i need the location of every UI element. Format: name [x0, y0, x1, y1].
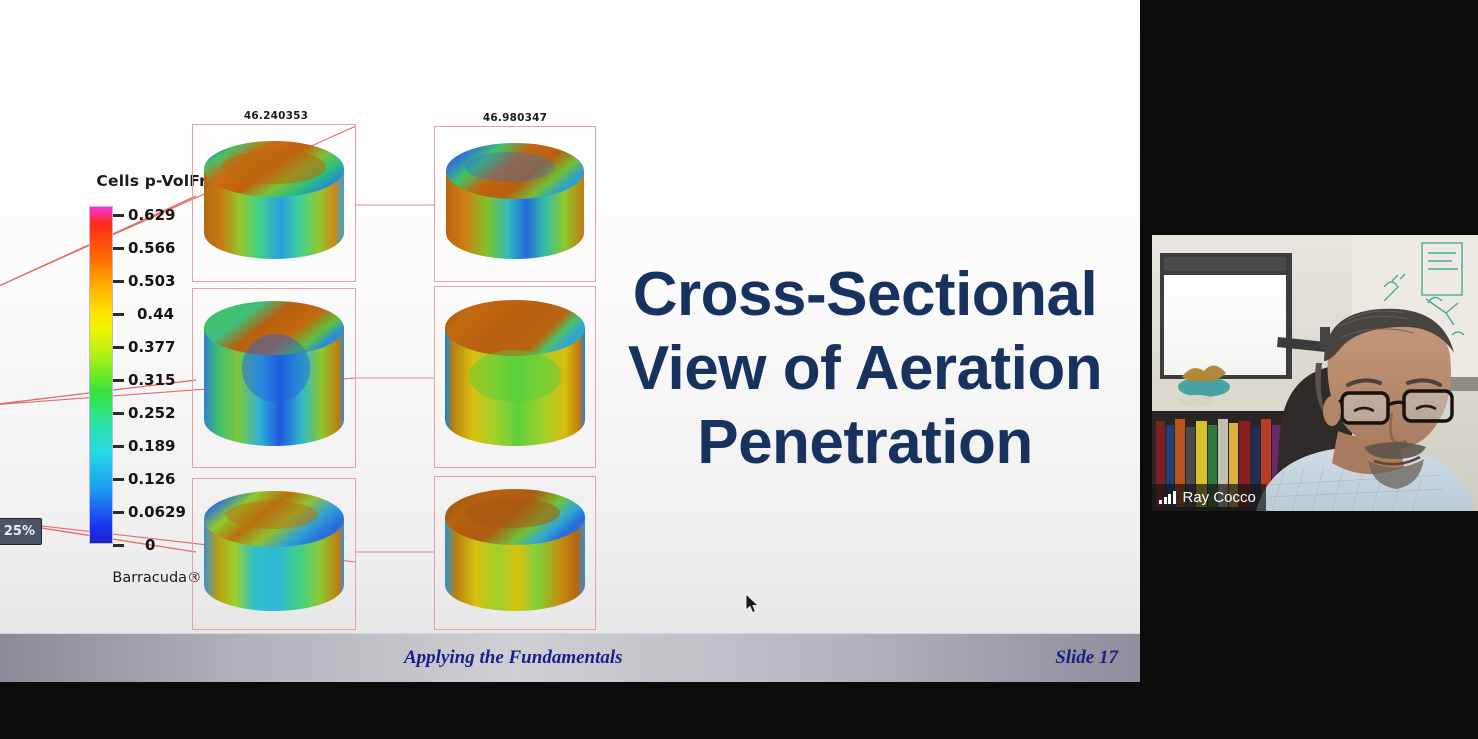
sim-top-label-right: 46.980347 [434, 112, 596, 124]
tick-dash-icon [113, 544, 124, 547]
participant-name-label: Ray Cocco [1183, 489, 1256, 506]
page-title: Cross-Sectional View of Aeration Penetra… [600, 258, 1130, 480]
cylinder-svg [198, 483, 350, 625]
cylinder-svg [440, 135, 590, 273]
tick-dash-icon [113, 214, 124, 217]
colorbar-tick: 0.0629 [113, 505, 186, 519]
colorbar-tick: 0.315 [113, 373, 175, 387]
presentation-slide: Cells p-VolFra 0.629 0.566 0.503 0.44 0.… [0, 0, 1140, 682]
cylinder-render [193, 289, 355, 467]
mouse-cursor [745, 593, 761, 615]
cylinder-render [193, 479, 355, 629]
cylinder-render [435, 287, 595, 467]
cylinder-render [193, 125, 355, 281]
zoom-level-label: @ 25% [0, 524, 35, 539]
colorbar-tick: 0.189 [113, 439, 175, 453]
colorbar-gradient [89, 206, 113, 544]
colorbar-tick: 0.566 [113, 241, 175, 255]
cylinder-svg [198, 294, 350, 462]
participant-name-badge: Ray Cocco [1152, 484, 1266, 511]
colorbar-tick: 0.503 [113, 274, 175, 288]
title-line-1: Cross-Sectional [600, 258, 1130, 332]
colorbar-tick: 0.252 [113, 406, 175, 420]
sim-panel-left-row1[interactable] [192, 124, 356, 282]
title-line-2: View of Aeration [600, 332, 1130, 406]
cylinder-render [435, 477, 595, 629]
cylinder-svg [198, 133, 350, 273]
participant-video-tile[interactable]: Ray Cocco [1152, 235, 1478, 511]
tick-dash-icon [113, 412, 124, 415]
webcam-video-frame [1152, 235, 1478, 511]
tick-dash-icon [113, 478, 124, 481]
signal-bars-icon [1159, 491, 1176, 504]
colorbar-tick: 0 [113, 538, 155, 552]
colorbar-tick: 0.377 [113, 340, 175, 354]
screen-share-window: Cells p-VolFra 0.629 0.566 0.503 0.44 0.… [0, 0, 1478, 739]
colorbar-tick: 0.629 [113, 208, 175, 222]
zoom-level-badge[interactable]: @ 25% [0, 518, 42, 545]
cylinder-render [435, 127, 595, 281]
slide-footer-bar: Applying the Fundamentals Slide 17 [0, 633, 1140, 682]
footer-slide-number: Slide 17 [1055, 647, 1118, 669]
tick-dash-icon [113, 511, 124, 514]
sim-panel-left-row2[interactable] [192, 288, 356, 468]
tick-dash-icon [113, 346, 124, 349]
tick-dash-icon [113, 379, 124, 382]
footer-presentation-title: Applying the Fundamentals [404, 647, 623, 669]
tick-dash-icon [113, 247, 124, 250]
title-line-3: Penetration [600, 406, 1130, 480]
sim-top-label-left: 46.240353 [196, 110, 356, 122]
sim-panel-left-row3[interactable] [192, 478, 356, 630]
sim-panel-right-row3[interactable] [434, 476, 596, 630]
colorbar-tick: 0.44 [113, 307, 174, 321]
tick-dash-icon [113, 280, 124, 283]
tick-dash-icon [113, 313, 124, 316]
cylinder-svg [440, 481, 590, 625]
colorbar-tick: 0.126 [113, 472, 175, 486]
sim-panel-right-row1[interactable] [434, 126, 596, 282]
cylinder-svg [440, 292, 590, 462]
sim-panel-right-row2[interactable] [434, 286, 596, 468]
tick-dash-icon [113, 445, 124, 448]
